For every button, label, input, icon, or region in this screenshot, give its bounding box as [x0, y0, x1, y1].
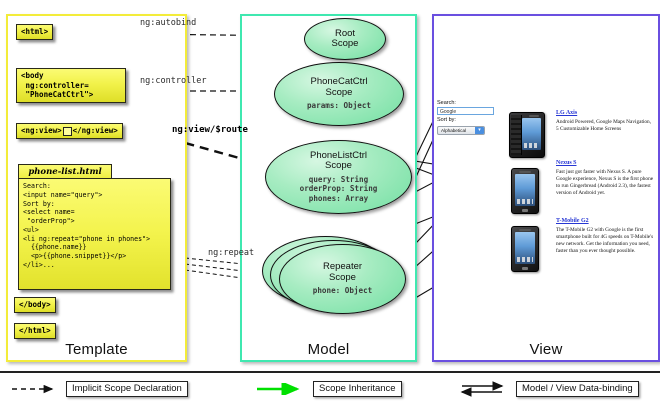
scope-phonelistctrl-line1: PhoneListCtrl: [310, 150, 367, 161]
scope-repeater: Repeater Scope phone: Object: [279, 244, 406, 314]
phone-name-link[interactable]: T-Mobile G2: [556, 218, 654, 224]
phone-list-item: Nexus S Fast just got faster with Nexus …: [556, 160, 654, 197]
code-box-html-open: <html>: [16, 24, 53, 40]
legend-item-model-view-data-binding: Model / View Data-binding: [460, 381, 639, 397]
scope-repeater-line2: Scope: [329, 272, 356, 283]
phone-image-lg-axis: [509, 112, 545, 158]
phone-list-item: LG Axis Android Powered, Google Maps Nav…: [556, 110, 654, 133]
speaker-detail: [519, 229, 531, 231]
legend-label-scope-inheritance: Scope Inheritance: [313, 381, 402, 397]
screen-detail: [515, 232, 535, 264]
ngview-open-tag: <ng:view>: [21, 126, 62, 135]
phone-snippet: Fast just got faster with Nexus S. A pur…: [556, 169, 654, 197]
chevron-down-icon: ▾: [475, 127, 484, 134]
edge-label-ng-repeat: ng:repeat: [208, 248, 254, 258]
keyboard-detail: [511, 115, 522, 155]
scope-root: Root Scope: [304, 18, 386, 60]
speaker-detail: [529, 115, 539, 117]
scope-root-line1: Root: [335, 28, 355, 39]
phone-name-link[interactable]: LG Axis: [556, 110, 654, 116]
green-arrow-icon: [255, 383, 307, 395]
callout-code: Search: <input name="query"> Sort by: <s…: [18, 178, 171, 290]
screen-detail: [522, 118, 541, 150]
edge-label-ng-autobind: ng:autobind: [140, 18, 196, 28]
phone-snippet: The T-Mobile G2 with Google is the first…: [556, 227, 654, 255]
panel-model-label: Model: [242, 341, 415, 358]
code-box-body-open: <body ng:controller= "PhoneCatCtrl">: [16, 68, 126, 103]
phone-list-item: T-Mobile G2 The T-Mobile G2 with Google …: [556, 218, 654, 255]
panel-view-label: View: [434, 341, 658, 358]
scope-repeater-props: phone: Object: [313, 286, 372, 295]
phone-image-nexus-s: [511, 168, 539, 214]
double-arrow-icon: [460, 381, 510, 397]
phone-name-link[interactable]: Nexus S: [556, 160, 654, 166]
scope-phonelistctrl-props: query: String orderProp: String phones: …: [300, 175, 378, 203]
scope-phonelistctrl-line2: Scope: [325, 160, 352, 171]
legend: Implicit Scope Declaration Scope Inherit…: [0, 371, 660, 407]
legend-label-implicit-scope-declaration: Implicit Scope Declaration: [66, 381, 188, 397]
home-button-detail: [522, 209, 528, 212]
ngview-close-tag: </ng:view>: [73, 126, 118, 135]
home-button-detail: [522, 267, 528, 270]
sort-select-value: Alphabetical: [438, 128, 475, 133]
screen-detail: [515, 174, 535, 206]
phone-snippet: Android Powered, Google Maps Navigation,…: [556, 119, 654, 133]
legend-label-model-view-data-binding: Model / View Data-binding: [516, 381, 639, 397]
scope-phonelistctrl: PhoneListCtrl Scope query: String orderP…: [265, 140, 412, 214]
speaker-detail: [519, 171, 531, 173]
scope-phonecatctrl: PhoneCatCtrl Scope params: Object: [274, 62, 404, 126]
panel-template-label: Template: [8, 341, 185, 358]
view-search-form: Search: Google Sort by: Alphabetical ▾: [437, 100, 499, 135]
phone-list-callout: phone-list.html Search: <input name="que…: [18, 164, 173, 292]
code-box-ngview: <ng:view></ng:view>: [16, 123, 123, 139]
edge-label-ng-view-route: ng:view/$route: [172, 125, 248, 135]
sort-select[interactable]: Alphabetical ▾: [437, 126, 485, 135]
diagram-stage: Template <html> <body ng:controller= "Ph…: [0, 0, 660, 405]
legend-item-scope-inheritance: Scope Inheritance: [255, 381, 402, 397]
ngview-placeholder-icon: [63, 127, 72, 136]
scope-phonecatctrl-line2: Scope: [326, 87, 353, 98]
code-box-body-close: </body>: [14, 297, 56, 313]
legend-item-implicit-scope-declaration: Implicit Scope Declaration: [10, 381, 188, 397]
scope-phonecatctrl-props: params: Object: [307, 101, 371, 110]
sort-label: Sort by:: [437, 117, 499, 124]
edge-label-ng-controller: ng:controller: [140, 76, 207, 86]
search-input[interactable]: Google: [437, 107, 494, 115]
scope-root-line2: Scope: [332, 38, 359, 49]
phone-image-t-mobile-g2: [511, 226, 539, 272]
search-label: Search:: [437, 100, 499, 107]
scope-repeater-line1: Repeater: [323, 261, 362, 272]
dashed-arrow-icon: [10, 383, 60, 395]
code-box-html-close: </html>: [14, 323, 56, 339]
scope-phonecatctrl-line1: PhoneCatCtrl: [310, 76, 367, 87]
